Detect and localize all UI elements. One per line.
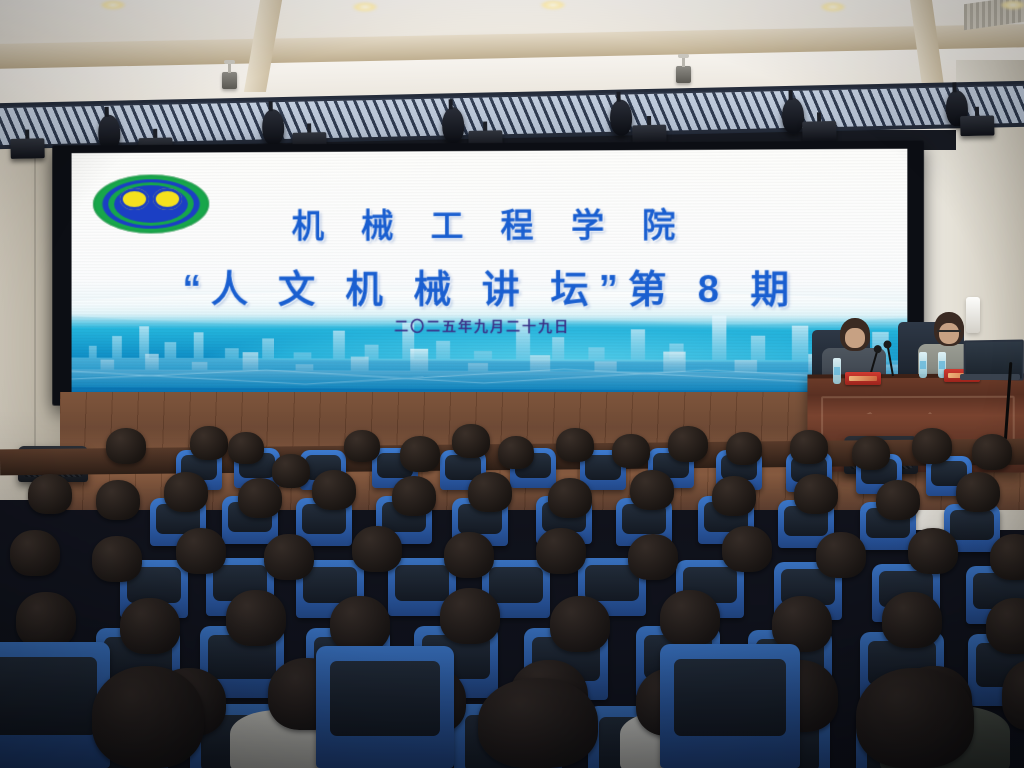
audience-head — [392, 476, 436, 516]
audience-head — [228, 432, 264, 464]
audience-head — [440, 588, 500, 644]
audience-head — [722, 526, 772, 572]
audience-head — [630, 470, 674, 510]
nameplate-left — [845, 372, 881, 385]
audience-head — [468, 472, 512, 512]
audience-head — [264, 534, 314, 580]
audience-head — [352, 526, 402, 572]
stage-light-icon — [442, 107, 465, 143]
audience-head — [876, 480, 920, 520]
water-bottle — [919, 352, 927, 378]
downlight-icon — [100, 0, 126, 10]
audience-head — [712, 476, 756, 516]
audience-head — [556, 428, 594, 462]
audience-head — [794, 474, 838, 514]
audience-head — [852, 436, 890, 470]
audience-head — [816, 532, 866, 578]
audience-head — [344, 430, 380, 462]
audience-head — [668, 426, 708, 462]
audience-head — [28, 474, 72, 514]
audience-head — [550, 596, 610, 652]
audience-head — [790, 430, 828, 464]
audience-head — [120, 598, 180, 654]
audience-head — [452, 424, 490, 458]
seat — [316, 646, 454, 768]
stage-light-icon — [610, 99, 633, 135]
glasses-icon — [937, 330, 961, 336]
screen-title-line1: 机 械 工 程 学 院 — [72, 198, 908, 248]
audience-head — [330, 596, 390, 652]
audience-area — [0, 410, 1024, 768]
audience-head — [912, 428, 952, 464]
audience-head — [92, 536, 142, 582]
audience-head — [312, 470, 356, 510]
stage-light-icon — [782, 98, 805, 134]
lecture-hall-photo: 机 械 工 程 学 院 “人 文 机 械 讲 坛”第 8 期 二〇二五年九月二十… — [0, 0, 1024, 768]
downlight-icon — [820, 2, 846, 12]
audience-head — [908, 528, 958, 574]
audience-head — [92, 666, 204, 768]
audience-head — [164, 472, 208, 512]
audience-head — [498, 436, 534, 469]
stage-light-icon — [262, 109, 285, 145]
audience-head — [990, 534, 1024, 580]
audience-head — [628, 534, 678, 580]
audience-head — [226, 590, 286, 646]
audience-head — [478, 678, 598, 768]
audience-head — [16, 592, 76, 648]
water-bottle — [833, 358, 841, 384]
audience-head — [536, 528, 586, 574]
audience-head — [660, 590, 720, 646]
audience-head — [190, 426, 228, 460]
audience-head — [96, 480, 140, 520]
audience-head — [882, 592, 942, 648]
downlight-icon — [540, 0, 566, 10]
wall-fixture-icon — [966, 297, 980, 333]
audience-head — [272, 454, 310, 488]
audience-head — [176, 528, 226, 574]
audience-head — [856, 668, 974, 768]
screen-title-line2: “人 文 机 械 讲 坛”第 8 期 — [72, 258, 908, 314]
downlight-icon — [1000, 0, 1024, 10]
ceiling-speaker-icon — [676, 66, 691, 83]
audience-head — [238, 478, 282, 518]
audience-head — [106, 428, 146, 464]
led-screen-content: 机 械 工 程 学 院 “人 文 机 械 讲 坛”第 8 期 二〇二五年九月二十… — [72, 149, 908, 402]
led-screen: 机 械 工 程 学 院 “人 文 机 械 讲 坛”第 8 期 二〇二五年九月二十… — [52, 140, 924, 410]
screen-date-line: 二〇二五年九月二十九日 — [72, 315, 908, 337]
audience-head — [10, 530, 60, 576]
ceiling-speaker-icon — [222, 72, 237, 89]
audience-head — [612, 434, 650, 468]
audience-head — [400, 436, 440, 472]
audience-head — [972, 434, 1012, 470]
downlight-icon — [352, 2, 378, 12]
seat — [660, 644, 800, 768]
audience-head — [548, 478, 592, 518]
audience-head — [444, 532, 494, 578]
audience-head — [726, 432, 762, 465]
audience-head — [956, 472, 1000, 512]
